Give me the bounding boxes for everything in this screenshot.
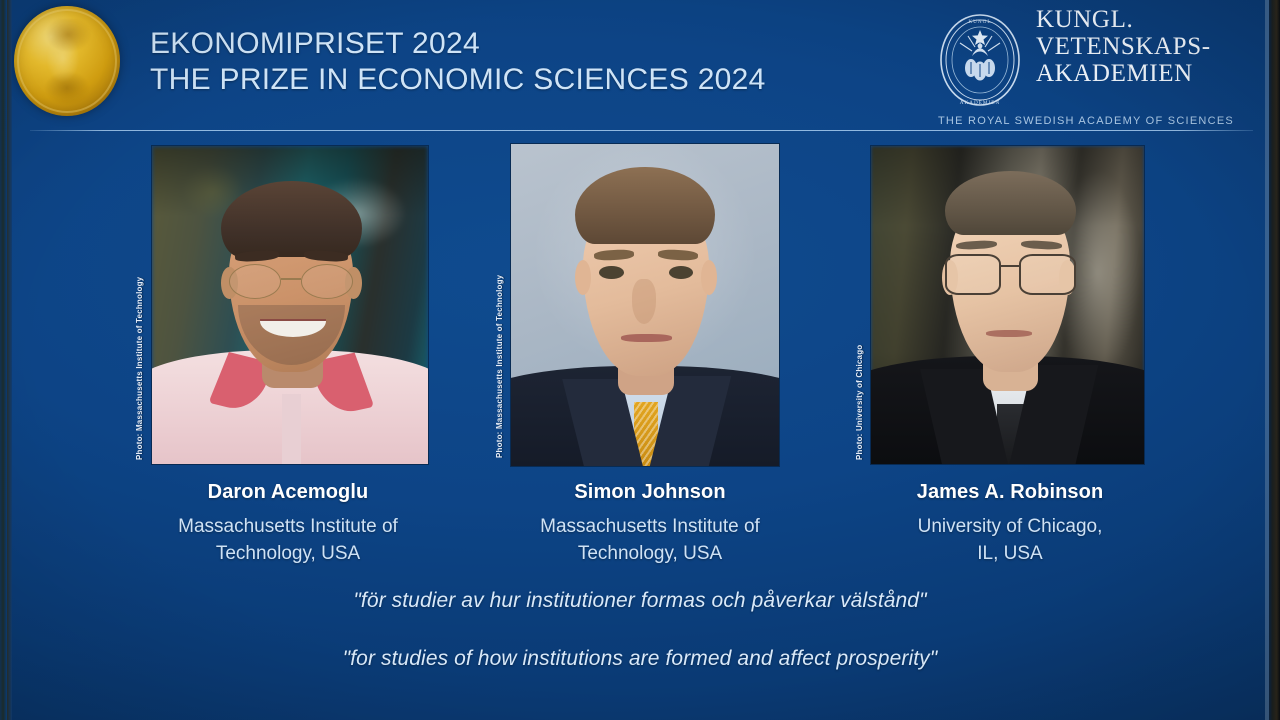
affiliation-line-3a: University of Chicago,: [855, 513, 1165, 540]
affiliation-line-2a: Massachusetts Institute of: [495, 513, 805, 540]
nose-2: [632, 279, 656, 324]
laureate-photo-2: [511, 144, 779, 466]
laureate-name-1: Daron Acemoglu: [133, 480, 443, 504]
slide-header: EKONOMIPRISET 2024 THE PRIZE IN ECONOMIC…: [0, 0, 1280, 134]
svg-text:KUNGL: KUNGL: [968, 19, 991, 25]
affiliation-line-1a: Massachusetts Institute of: [133, 513, 443, 540]
laureate-card-2: Photo: Massachusetts Institute of Techno…: [495, 146, 805, 567]
hair-1: [221, 181, 362, 257]
laureate-photo-3: [871, 146, 1144, 464]
title-english: THE PRIZE IN ECONOMIC SCIENCES 2024: [150, 62, 766, 98]
royal-academy-seal-icon: KUNGL AKADEMIEN: [938, 12, 1022, 108]
svg-text:AKADEMIEN: AKADEMIEN: [960, 100, 1000, 106]
mouth-2: [621, 334, 672, 342]
citation-english: "for studies of how institutions are for…: [0, 646, 1280, 672]
laureate-caption-2: Simon Johnson Massachusetts Institute of…: [495, 480, 805, 567]
affiliation-line-1b: Technology, USA: [133, 540, 443, 567]
laureate-name-3: James A. Robinson: [855, 480, 1165, 504]
academy-line-3: AKADEMIEN: [1036, 60, 1211, 87]
title-swedish: EKONOMIPRISET 2024: [150, 26, 766, 62]
academy-logo: KUNGL AKADEMIEN KUNGL. VETENSKAPS- AKADE…: [938, 6, 1234, 127]
academy-subtitle: THE ROYAL SWEDISH ACADEMY OF SCIENCES: [938, 115, 1234, 127]
laureate-card-1: Photo: Massachusetts Institute of Techno…: [133, 146, 443, 567]
prize-citation: "för studier av hur institutioner formas…: [0, 588, 1280, 672]
academy-line-2: VETENSKAPS-: [1036, 33, 1211, 60]
laureate-caption-1: Daron Acemoglu Massachusetts Institute o…: [133, 480, 443, 567]
shirt-placket-1: [282, 394, 301, 464]
medal-rim: [17, 9, 117, 113]
presentation-slide: EKONOMIPRISET 2024 THE PRIZE IN ECONOMIC…: [0, 0, 1280, 720]
photo-credit-1: Photo: Massachusetts Institute of Techno…: [135, 277, 144, 460]
laureate-caption-3: James A. Robinson University of Chicago,…: [855, 480, 1165, 567]
glasses-icon-3: [945, 254, 1076, 295]
eye-left-2: [599, 266, 623, 279]
mouth-3: [986, 330, 1032, 337]
photo-credit-3: Photo: University of Chicago: [855, 345, 864, 460]
portrait-figure-3: [871, 146, 1144, 464]
ear-right-2: [701, 260, 717, 295]
hair-3: [945, 171, 1076, 235]
affiliation-line-2b: Technology, USA: [495, 540, 805, 567]
page-title: EKONOMIPRISET 2024 THE PRIZE IN ECONOMIC…: [150, 26, 766, 98]
nobel-medal-icon: [14, 6, 120, 116]
laureate-card-3: Photo: University of Chicago: [855, 146, 1165, 567]
laureate-photo-wrap-1: Photo: Massachusetts Institute of Techno…: [133, 146, 443, 466]
portrait-figure-1: [152, 146, 428, 464]
glasses-icon-1: [229, 264, 353, 299]
laureate-photo-wrap-2: Photo: Massachusetts Institute of Techno…: [495, 146, 805, 466]
laureate-name-2: Simon Johnson: [495, 480, 805, 504]
academy-line-1: KUNGL.: [1036, 6, 1211, 33]
laureate-affiliation-2: Massachusetts Institute of Technology, U…: [495, 513, 805, 567]
affiliation-line-3b: IL, USA: [855, 540, 1165, 567]
header-divider: [30, 130, 1253, 131]
laureate-affiliation-3: University of Chicago, IL, USA: [855, 513, 1165, 567]
laureate-photo-wrap-3: Photo: University of Chicago: [855, 146, 1165, 466]
citation-swedish: "för studier av hur institutioner formas…: [0, 588, 1280, 614]
laureate-photo-1: [152, 146, 428, 464]
portrait-figure-2: [511, 144, 779, 466]
laureate-affiliation-1: Massachusetts Institute of Technology, U…: [133, 513, 443, 567]
photo-credit-2: Photo: Massachusetts Institute of Techno…: [495, 275, 504, 458]
hair-2: [575, 167, 714, 244]
